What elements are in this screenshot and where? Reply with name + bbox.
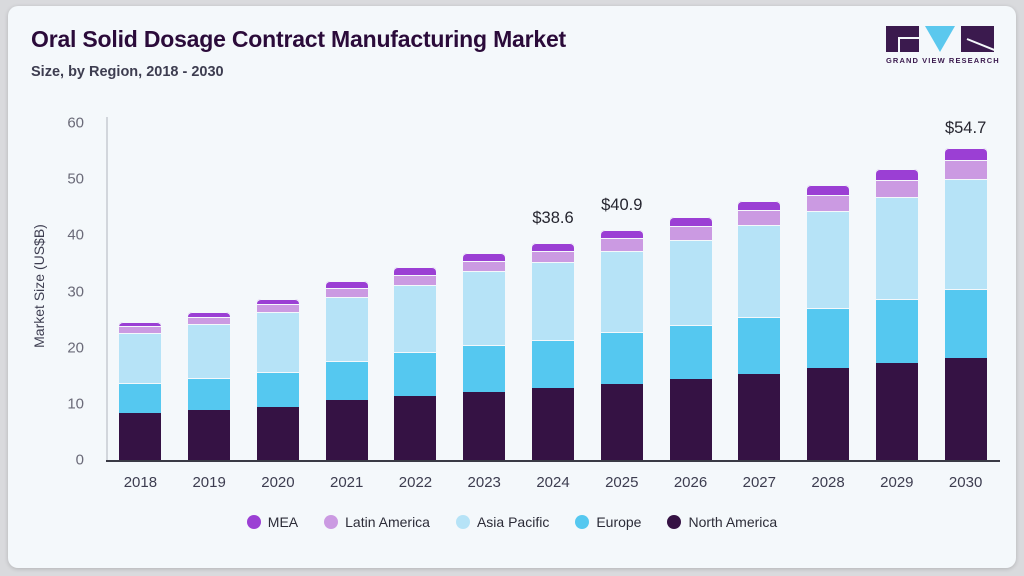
bar-2019[interactable]	[188, 312, 230, 460]
legend-label: Latin America	[345, 514, 430, 530]
legend-swatch-icon	[247, 515, 261, 529]
legend-swatch-icon	[575, 515, 589, 529]
bar-2022[interactable]	[394, 267, 436, 460]
bar-2024[interactable]	[532, 243, 574, 460]
legend-item-north-america[interactable]: North America	[667, 514, 777, 530]
y-axis-tick-30: 30	[46, 283, 84, 300]
bar-value-label-2030: $54.7	[911, 119, 1016, 138]
bar-segment-europe-2019[interactable]	[188, 378, 230, 410]
bar-segment-asia-pacific-2022[interactable]	[394, 285, 436, 352]
bar-segment-asia-pacific-2030[interactable]	[945, 179, 987, 289]
bar-2029[interactable]	[876, 169, 918, 460]
bar-segment-latin-america-2027[interactable]	[738, 210, 780, 225]
bar-segment-mea-2019[interactable]	[188, 312, 230, 316]
bar-segment-north-america-2022[interactable]	[394, 396, 436, 460]
bar-segment-north-america-2023[interactable]	[463, 392, 505, 460]
bar-segment-europe-2029[interactable]	[876, 299, 918, 363]
y-axis-line	[106, 117, 108, 461]
bar-segment-mea-2023[interactable]	[463, 253, 505, 261]
bar-segment-europe-2020[interactable]	[257, 372, 299, 407]
legend-swatch-icon	[456, 515, 470, 529]
bar-segment-latin-america-2022[interactable]	[394, 275, 436, 285]
bar-segment-latin-america-2019[interactable]	[188, 317, 230, 324]
bar-value-label-2025: $40.9	[567, 196, 677, 215]
bar-segment-latin-america-2023[interactable]	[463, 261, 505, 272]
bar-segment-asia-pacific-2028[interactable]	[807, 211, 849, 309]
bar-segment-north-america-2025[interactable]	[601, 384, 643, 460]
bar-segment-north-america-2030[interactable]	[945, 358, 987, 460]
legend-item-mea[interactable]: MEA	[247, 514, 298, 530]
bar-segment-mea-2028[interactable]	[807, 185, 849, 195]
bar-segment-europe-2028[interactable]	[807, 308, 849, 368]
bar-segment-asia-pacific-2019[interactable]	[188, 324, 230, 378]
bar-segment-north-america-2020[interactable]	[257, 407, 299, 460]
bar-segment-europe-2022[interactable]	[394, 352, 436, 396]
bar-segment-europe-2030[interactable]	[945, 289, 987, 358]
bar-segment-europe-2021[interactable]	[326, 361, 368, 401]
legend-item-europe[interactable]: Europe	[575, 514, 641, 530]
bar-2023[interactable]	[463, 253, 505, 460]
bar-segment-asia-pacific-2020[interactable]	[257, 312, 299, 372]
bar-segment-north-america-2027[interactable]	[738, 374, 780, 460]
bar-segment-latin-america-2026[interactable]	[670, 226, 712, 239]
bar-2018[interactable]	[119, 322, 161, 460]
bar-segment-mea-2029[interactable]	[876, 169, 918, 180]
bar-segment-latin-america-2029[interactable]	[876, 180, 918, 197]
y-axis-tick-10: 10	[46, 395, 84, 412]
bar-segment-latin-america-2028[interactable]	[807, 195, 849, 211]
y-axis-tick-0: 0	[46, 452, 84, 469]
bar-segment-north-america-2028[interactable]	[807, 368, 849, 460]
bar-segment-asia-pacific-2024[interactable]	[532, 262, 574, 340]
bar-segment-latin-america-2025[interactable]	[601, 238, 643, 250]
bar-segment-mea-2018[interactable]	[119, 322, 161, 326]
bar-2025[interactable]	[601, 230, 643, 460]
bar-segment-north-america-2019[interactable]	[188, 410, 230, 460]
bar-segment-asia-pacific-2029[interactable]	[876, 197, 918, 299]
bar-2026[interactable]	[670, 217, 712, 460]
bar-segment-north-america-2018[interactable]	[119, 413, 161, 460]
y-axis-tick-60: 60	[46, 115, 84, 132]
bar-segment-asia-pacific-2026[interactable]	[670, 240, 712, 325]
bar-segment-asia-pacific-2023[interactable]	[463, 271, 505, 345]
bar-segment-mea-2024[interactable]	[532, 243, 574, 251]
bar-segment-latin-america-2018[interactable]	[119, 326, 161, 332]
bar-segment-asia-pacific-2027[interactable]	[738, 225, 780, 317]
legend-item-latin-america[interactable]: Latin America	[324, 514, 430, 530]
bar-segment-latin-america-2030[interactable]	[945, 160, 987, 179]
bar-segment-europe-2027[interactable]	[738, 317, 780, 374]
bar-segment-asia-pacific-2021[interactable]	[326, 297, 368, 360]
bar-segment-europe-2018[interactable]	[119, 383, 161, 413]
bar-segment-mea-2021[interactable]	[326, 281, 368, 288]
bar-2030[interactable]	[945, 153, 987, 460]
bar-segment-mea-2020[interactable]	[257, 299, 299, 304]
bar-2028[interactable]	[807, 185, 849, 460]
chart-card: Oral Solid Dosage Contract Manufacturing…	[8, 6, 1016, 568]
x-axis-tick-2030: 2030	[926, 474, 1006, 491]
bar-2020[interactable]	[257, 299, 299, 460]
bar-segment-europe-2024[interactable]	[532, 340, 574, 387]
chart-plot-area: Market Size (US$B) 0102030405060 2018201…	[8, 6, 1016, 568]
legend-label: Europe	[596, 514, 641, 530]
y-axis-tick-20: 20	[46, 339, 84, 356]
y-axis-label: Market Size (US$B)	[31, 161, 47, 411]
bar-segment-mea-2030[interactable]	[945, 148, 987, 160]
y-axis-tick-40: 40	[46, 227, 84, 244]
bar-segment-latin-america-2024[interactable]	[532, 251, 574, 262]
bar-segment-mea-2022[interactable]	[394, 267, 436, 274]
bar-segment-latin-america-2021[interactable]	[326, 288, 368, 298]
bar-segment-mea-2027[interactable]	[738, 201, 780, 211]
bar-segment-north-america-2026[interactable]	[670, 379, 712, 460]
bar-segment-europe-2025[interactable]	[601, 332, 643, 384]
bar-segment-mea-2026[interactable]	[670, 217, 712, 226]
bar-segment-asia-pacific-2018[interactable]	[119, 333, 161, 384]
bar-segment-north-america-2024[interactable]	[532, 388, 574, 460]
legend-label: MEA	[268, 514, 298, 530]
bar-segment-latin-america-2020[interactable]	[257, 304, 299, 311]
bar-segment-north-america-2021[interactable]	[326, 400, 368, 460]
bar-segment-europe-2026[interactable]	[670, 325, 712, 379]
bar-segment-asia-pacific-2025[interactable]	[601, 251, 643, 332]
legend-item-asia-pacific[interactable]: Asia Pacific	[456, 514, 549, 530]
y-axis-tick-50: 50	[46, 171, 84, 188]
x-axis-line	[106, 460, 1000, 462]
bar-segment-north-america-2029[interactable]	[876, 363, 918, 460]
bar-2027[interactable]	[738, 201, 780, 460]
legend-label: North America	[688, 514, 777, 530]
bar-2021[interactable]	[326, 281, 368, 460]
legend-swatch-icon	[324, 515, 338, 529]
legend-label: Asia Pacific	[477, 514, 549, 530]
chart-legend: MEALatin AmericaAsia PacificEuropeNorth …	[8, 514, 1016, 530]
bar-segment-europe-2023[interactable]	[463, 345, 505, 392]
legend-swatch-icon	[667, 515, 681, 529]
bar-segment-mea-2025[interactable]	[601, 230, 643, 238]
